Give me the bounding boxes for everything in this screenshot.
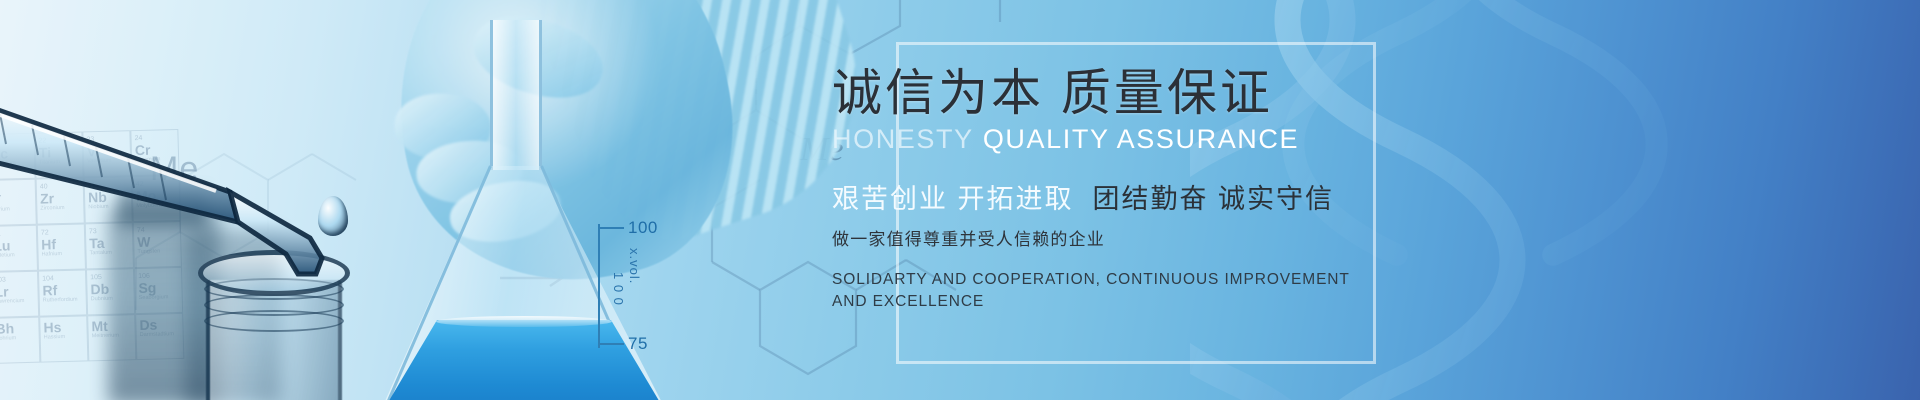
flask-tick-line: [598, 343, 624, 345]
flask-neck: [490, 20, 542, 170]
flask-volume-label: x.vol.: [627, 248, 642, 284]
banner-text-block: 诚信为本 质量保证 HONESTY QUALITY ASSURANCE 艰苦创业…: [832, 66, 1532, 314]
headline-chinese: 诚信为本 质量保证: [832, 66, 1532, 120]
hero-banner: 21 Sc Scandium 22 Ti Titanium 23 V Vanad…: [0, 0, 1920, 400]
slogan-light-part: 艰苦创业 开拓进取: [832, 184, 1074, 214]
subtitle-chinese: 做一家值得尊重并受人信赖的企业: [832, 225, 1532, 250]
headline-english-honesty: HONESTY: [832, 124, 974, 154]
subtitle-english: SOLIDARTY AND COOPERATION, CONTINUOUS IM…: [832, 269, 1532, 314]
erlenmeyer-flask: 100 75 x.vol. 1 0 0: [370, 20, 700, 400]
flask-scale-tick: 100: [598, 218, 658, 238]
flask-tick-label-75: 75: [628, 334, 648, 354]
pipette-icon: [0, 52, 400, 312]
headline-english-quality-assurance: QUALITY ASSURANCE: [983, 124, 1299, 154]
flask-liquid-surface: [436, 316, 612, 327]
flask-scale-tick: 75: [598, 334, 648, 354]
flask-scale-bar: [598, 224, 600, 348]
slogan-dark-part: 团结勤奋 诚实守信: [1093, 184, 1335, 214]
flask-volume-label-secondary: 1 0 0: [611, 272, 626, 306]
flask-tick-label-100: 100: [628, 218, 658, 238]
flask-graduation-scale: 100 75: [598, 218, 672, 368]
headline-english: HONESTY QUALITY ASSURANCE: [832, 124, 1532, 155]
flask-tick-line: [598, 227, 624, 229]
slogan-line: 艰苦创业 开拓进取 团结勤奋 诚实守信: [832, 177, 1532, 216]
